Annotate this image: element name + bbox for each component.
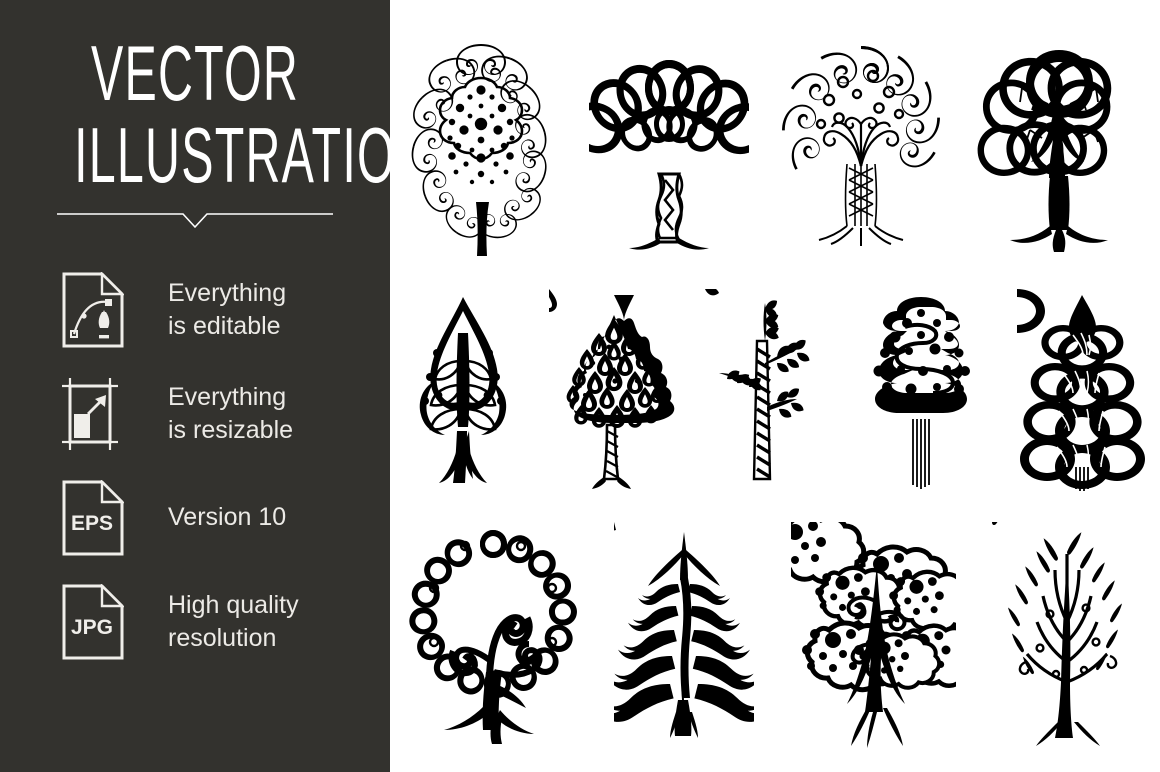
feature-item-version: EPS Version 10 (0, 466, 390, 570)
feature-item-resizable: Everything is resizable (0, 362, 390, 466)
notched-divider-icon (57, 205, 333, 231)
tree-wavy-branch-pine-tree (614, 522, 754, 752)
tree-blossom-cluster-tree (791, 522, 956, 752)
feature-item-editable: Everything is editable (0, 258, 390, 362)
tree-swirl-wreath-tree (408, 522, 578, 752)
title-line-illustration: ILLUSTRATION (74, 120, 316, 192)
jpg-file-icon: JPG (62, 583, 128, 661)
tree-row-1 (390, 14, 1160, 264)
title-line-vector: VECTOR (74, 38, 316, 110)
pen-tool-document-icon (62, 271, 128, 349)
product-preview-page: VECTOR ILLUSTRATION (0, 0, 1160, 772)
jpg-badge-text: JPG (71, 616, 113, 639)
tree-billowing-cloud-tree (974, 34, 1144, 264)
sidebar: VECTOR ILLUSTRATION (0, 0, 390, 772)
eps-file-icon: EPS (62, 479, 128, 557)
feature-label-version: Version 10 (168, 501, 286, 535)
tree-teardrop-foliage-cone-tree (549, 289, 679, 504)
feature-label-editable: Everything is editable (168, 277, 286, 344)
resize-handles-icon (62, 375, 128, 453)
tree-flame-foliage-tree (992, 522, 1142, 752)
tree-striped-fir-tree (1017, 289, 1147, 504)
tree-row-3 (390, 512, 1160, 752)
feature-label-resizable: Everything is resizable (168, 381, 293, 448)
tree-petal-fan-tree (589, 34, 749, 264)
feature-item-resolution: JPG High quality resolution (0, 570, 390, 674)
tree-spiral-canopy-tree-with-berries (781, 34, 941, 264)
brand-title: VECTOR ILLUSTRATION (0, 38, 390, 192)
feature-label-resolution: High quality resolution (168, 589, 299, 656)
tree-gallery (390, 0, 1160, 772)
tree-row-2 (390, 274, 1160, 504)
tree-curly-ball-tree-with-dots (406, 34, 556, 264)
tree-bubbly-conifer-tree (851, 289, 991, 504)
tree-pointed-leaf-tree (403, 289, 523, 504)
eps-badge-text: EPS (71, 512, 113, 535)
feature-list: Everything is editable (0, 258, 390, 674)
tree-sapling-with-leaf-sprigs (705, 289, 825, 504)
